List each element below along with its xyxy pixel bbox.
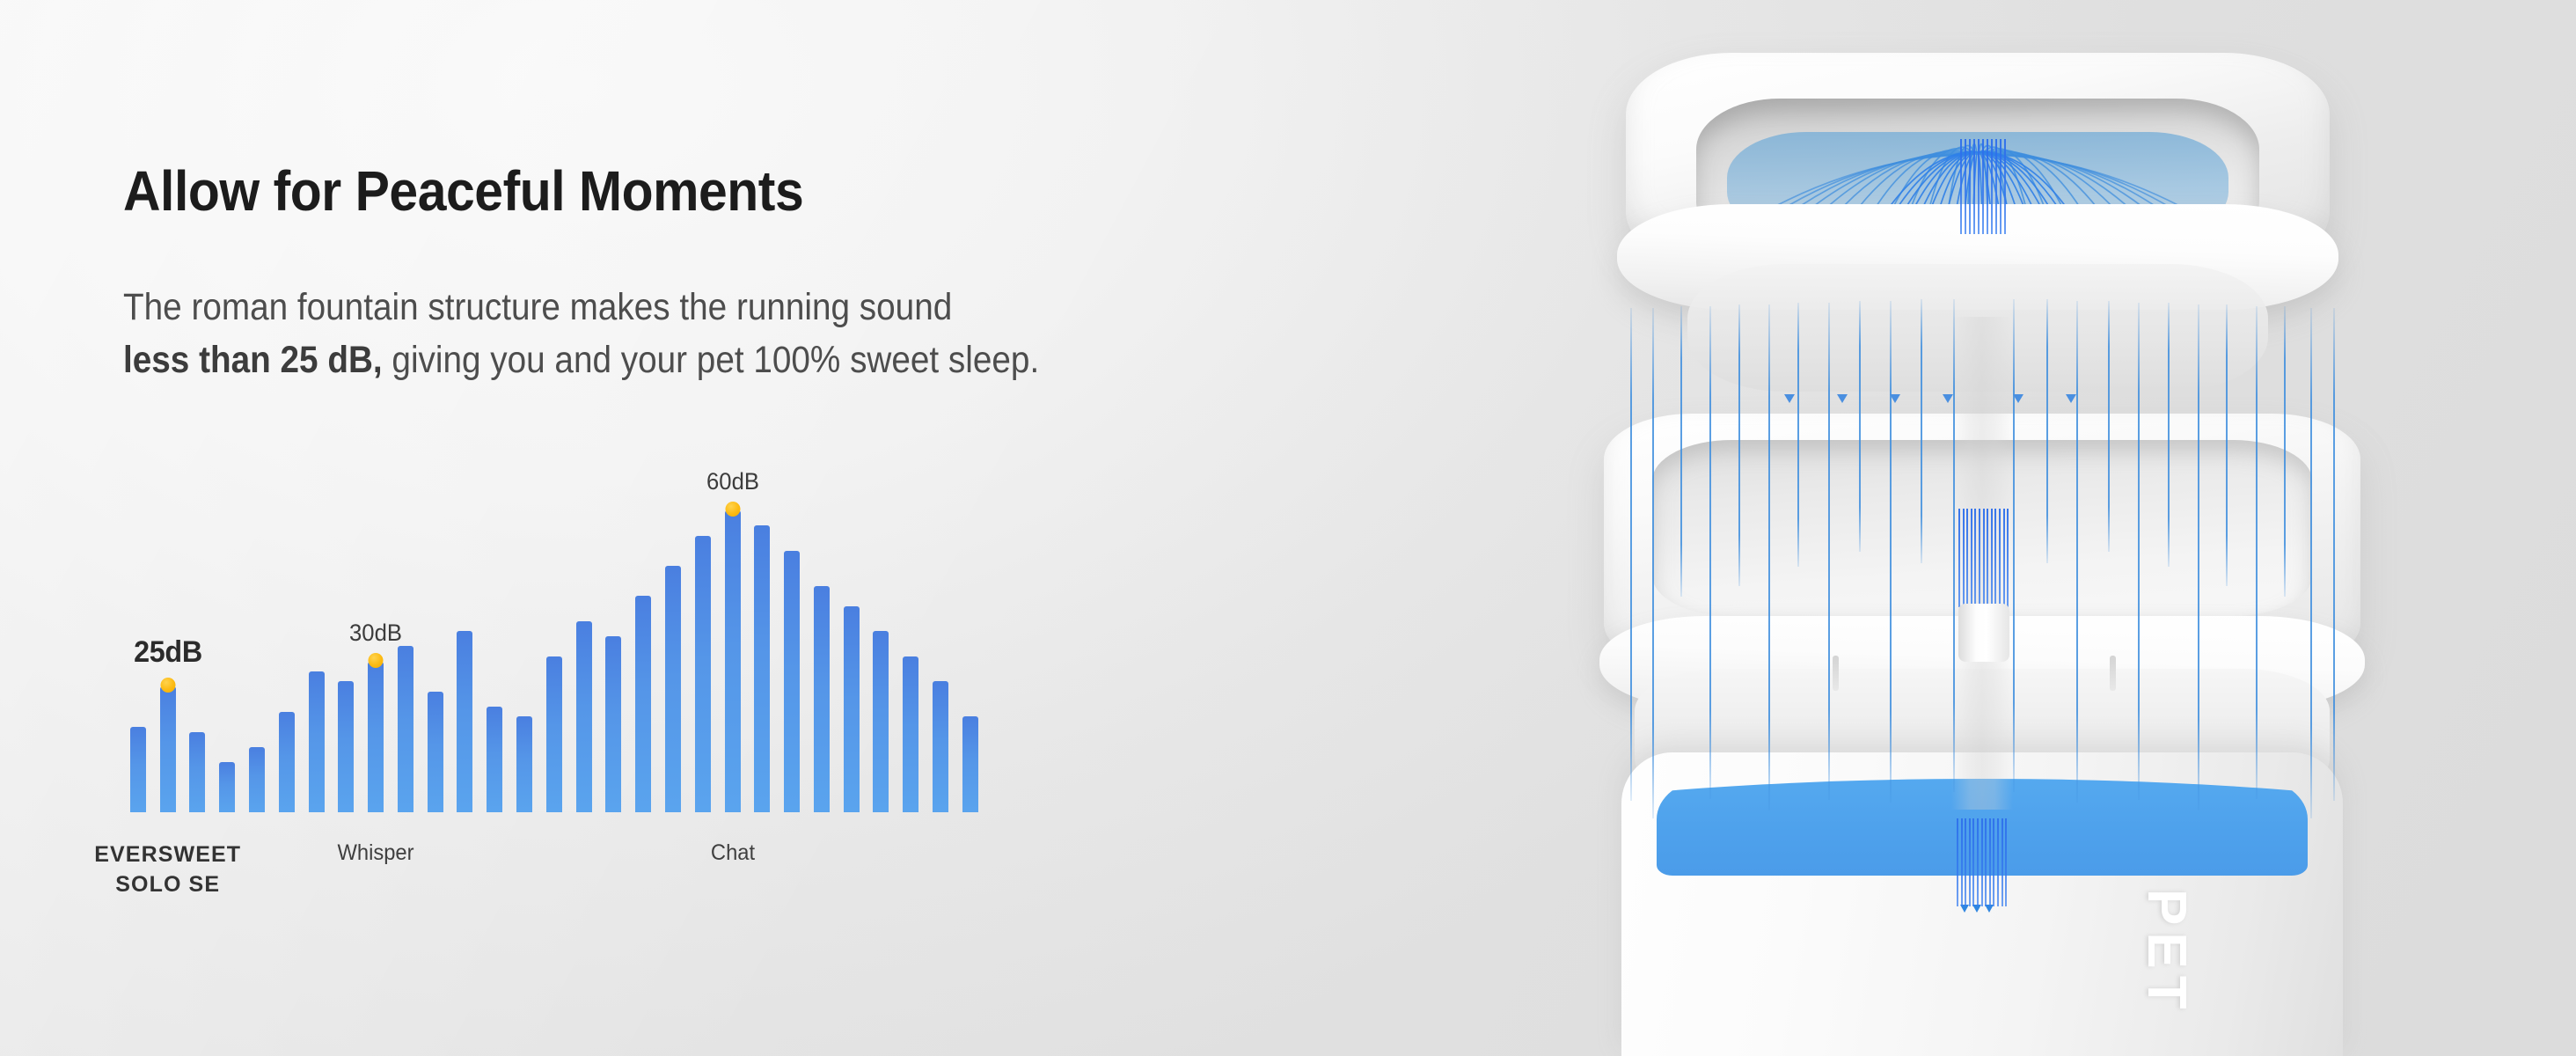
chart-bar <box>754 525 770 812</box>
center-jet <box>2004 139 2006 234</box>
water-stream <box>2333 308 2335 801</box>
center-jet <box>1985 818 1987 906</box>
chart-bar <box>160 686 176 812</box>
chart-bar-slot <box>955 460 985 812</box>
chart-bar-slot <box>747 460 777 812</box>
chart-bar-slot <box>807 460 837 812</box>
chart-bar-slot <box>242 460 272 812</box>
water-stream <box>1890 301 1892 803</box>
chart-bar <box>398 646 413 812</box>
water-stream <box>1953 299 1955 792</box>
chart-axis-label-line: SOLO SE <box>94 870 241 900</box>
water-stream <box>2198 304 2199 810</box>
chart-bar <box>546 656 562 812</box>
center-jet <box>1977 818 1979 906</box>
chart-bar-slot <box>212 460 242 812</box>
chart-bar <box>576 621 592 812</box>
center-jet <box>1957 818 1958 906</box>
chart-bar-slot <box>421 460 450 812</box>
water-flow-arrow <box>1890 394 1900 403</box>
chart-bar-slot <box>777 460 807 812</box>
water-stream <box>1652 308 1654 818</box>
chart-bar-slot <box>539 460 569 812</box>
chart-bar <box>725 510 741 812</box>
water-stream <box>2138 303 2140 800</box>
center-jet <box>1989 818 1991 906</box>
chart-bar <box>219 762 235 812</box>
chart-bar-slot <box>509 460 539 812</box>
center-jet <box>2002 818 2003 906</box>
center-jet <box>2000 139 2002 234</box>
center-jet <box>1972 818 1974 906</box>
chart-marker-dot <box>725 502 740 517</box>
water-flow-arrow <box>1784 394 1795 403</box>
water-stream <box>1828 303 1830 800</box>
center-jet <box>2007 509 2009 607</box>
center-jet <box>1981 818 1983 906</box>
water-flow-arrow <box>2013 394 2023 403</box>
chart-bar-slot <box>599 460 629 812</box>
chart-axis-label: EVERSWEETSOLO SE <box>94 840 241 900</box>
chart-bar <box>338 681 354 812</box>
water-stream <box>1738 304 1740 586</box>
chart-bar <box>309 671 325 812</box>
chart-bar <box>903 656 918 812</box>
chart-bar-slot <box>628 460 658 812</box>
brand-text-pet: PET <box>2135 889 2198 1016</box>
chart-bar <box>933 681 948 812</box>
center-jet <box>1987 139 1988 234</box>
center-jet <box>1963 509 1965 607</box>
chart-bar <box>368 662 384 812</box>
pump-collar <box>1958 604 2009 662</box>
center-jet <box>1973 139 1975 234</box>
center-jet <box>1966 509 1968 607</box>
water-stream <box>1709 306 1711 799</box>
chart-bar-slot <box>450 460 480 812</box>
water-stream <box>2256 306 2258 799</box>
chart-bar <box>249 747 265 812</box>
chart-bar <box>665 566 681 812</box>
center-jet <box>1993 818 1994 906</box>
water-stream <box>1680 306 1682 597</box>
center-jet <box>1999 509 2001 607</box>
water-stream <box>2076 301 2078 803</box>
chart-value-callout: 25dB <box>134 635 202 670</box>
chart-bar <box>784 551 800 812</box>
chart-bar <box>635 596 651 812</box>
water-stream <box>2310 308 2312 818</box>
center-jet <box>1987 509 1988 607</box>
chart-axis-label: Chat <box>711 840 755 866</box>
center-jet <box>1961 818 1963 906</box>
chart-bar-slot <box>302 460 332 812</box>
water-flow-arrow <box>1943 394 1953 403</box>
chart-axis-label-line: Whisper <box>338 840 414 866</box>
chart-axis-label: Whisper <box>338 840 414 866</box>
water-stream <box>1859 301 1861 552</box>
center-jet <box>1974 509 1976 607</box>
center-jet <box>1994 509 1996 607</box>
water-stream <box>2108 301 2110 552</box>
pet-fountain-render: PET <box>1520 0 2532 1056</box>
product-illustration: PET <box>1476 0 2576 1056</box>
chart-bar-slot <box>926 460 955 812</box>
chart-bar-slot <box>272 460 302 812</box>
chart-bar <box>695 536 711 812</box>
water-stream <box>2168 303 2170 567</box>
center-jet <box>2003 509 2005 607</box>
chart-marker-dot <box>369 653 384 668</box>
chart-bar-slot <box>688 460 718 812</box>
chart-bar-slot <box>837 460 867 812</box>
water-stream <box>2284 306 2286 597</box>
water-flow-arrow <box>2066 394 2076 403</box>
chart-bars-container <box>123 460 985 812</box>
center-jet <box>1983 509 1985 607</box>
chart-bar-slot <box>896 460 926 812</box>
water-stream <box>2013 299 2015 792</box>
center-jet <box>1958 509 1960 607</box>
chart-bar <box>844 606 860 812</box>
chart-bar-slot <box>569 460 599 812</box>
chart-axis-label-line: EVERSWEET <box>94 840 241 870</box>
left-content-column: Allow for Peaceful Moments The roman fou… <box>0 0 1100 1056</box>
center-jet <box>1971 509 1972 607</box>
center-jet <box>1982 139 1984 234</box>
center-jet <box>1960 139 1962 234</box>
chart-bar <box>814 586 830 812</box>
water-stream <box>2046 299 2048 563</box>
chart-bar <box>873 631 889 812</box>
chart-bar-slot <box>867 460 896 812</box>
water-stream <box>1768 304 1770 810</box>
center-jet <box>1979 509 1980 607</box>
chart-bar <box>189 732 205 812</box>
center-jet <box>1997 818 1999 906</box>
chart-bar <box>962 716 978 812</box>
water-stream <box>1797 303 1799 567</box>
center-jet <box>1991 509 1993 607</box>
chart-bar <box>487 707 502 812</box>
center-jet <box>1978 139 1980 234</box>
chart-bar <box>516 716 532 812</box>
water-flow-arrow <box>1837 394 1848 403</box>
chart-bar-slot <box>479 460 509 812</box>
chart-value-callout: 30dB <box>349 620 402 647</box>
chart-bar <box>428 692 443 812</box>
center-jet <box>2005 818 2007 906</box>
mid-bowl-notch-right <box>2110 656 2116 691</box>
chart-bar <box>605 636 621 812</box>
chart-bar-slot <box>718 460 748 812</box>
water-stream <box>2226 304 2228 586</box>
noise-level-bar-chart: 25dB30dB60dBEVERSWEETSOLO SEWhisperChat <box>0 0 1100 1056</box>
chart-bar <box>457 631 472 812</box>
chart-bar <box>279 712 295 812</box>
chart-marker-dot <box>160 678 175 693</box>
chart-value-callout: 60dB <box>706 468 759 495</box>
center-jet <box>1969 818 1971 906</box>
chart-axis-label-line: Chat <box>711 840 755 866</box>
water-stream <box>1630 308 1632 801</box>
center-jet <box>1991 139 1993 234</box>
chart-bar-slot <box>658 460 688 812</box>
chart-bar <box>130 727 146 812</box>
center-jet <box>1965 818 1966 906</box>
center-jet <box>1965 139 1966 234</box>
center-jet <box>1995 139 1997 234</box>
water-stream <box>1921 299 1922 563</box>
mid-bowl-notch-left <box>1833 656 1839 691</box>
center-jet <box>1969 139 1971 234</box>
